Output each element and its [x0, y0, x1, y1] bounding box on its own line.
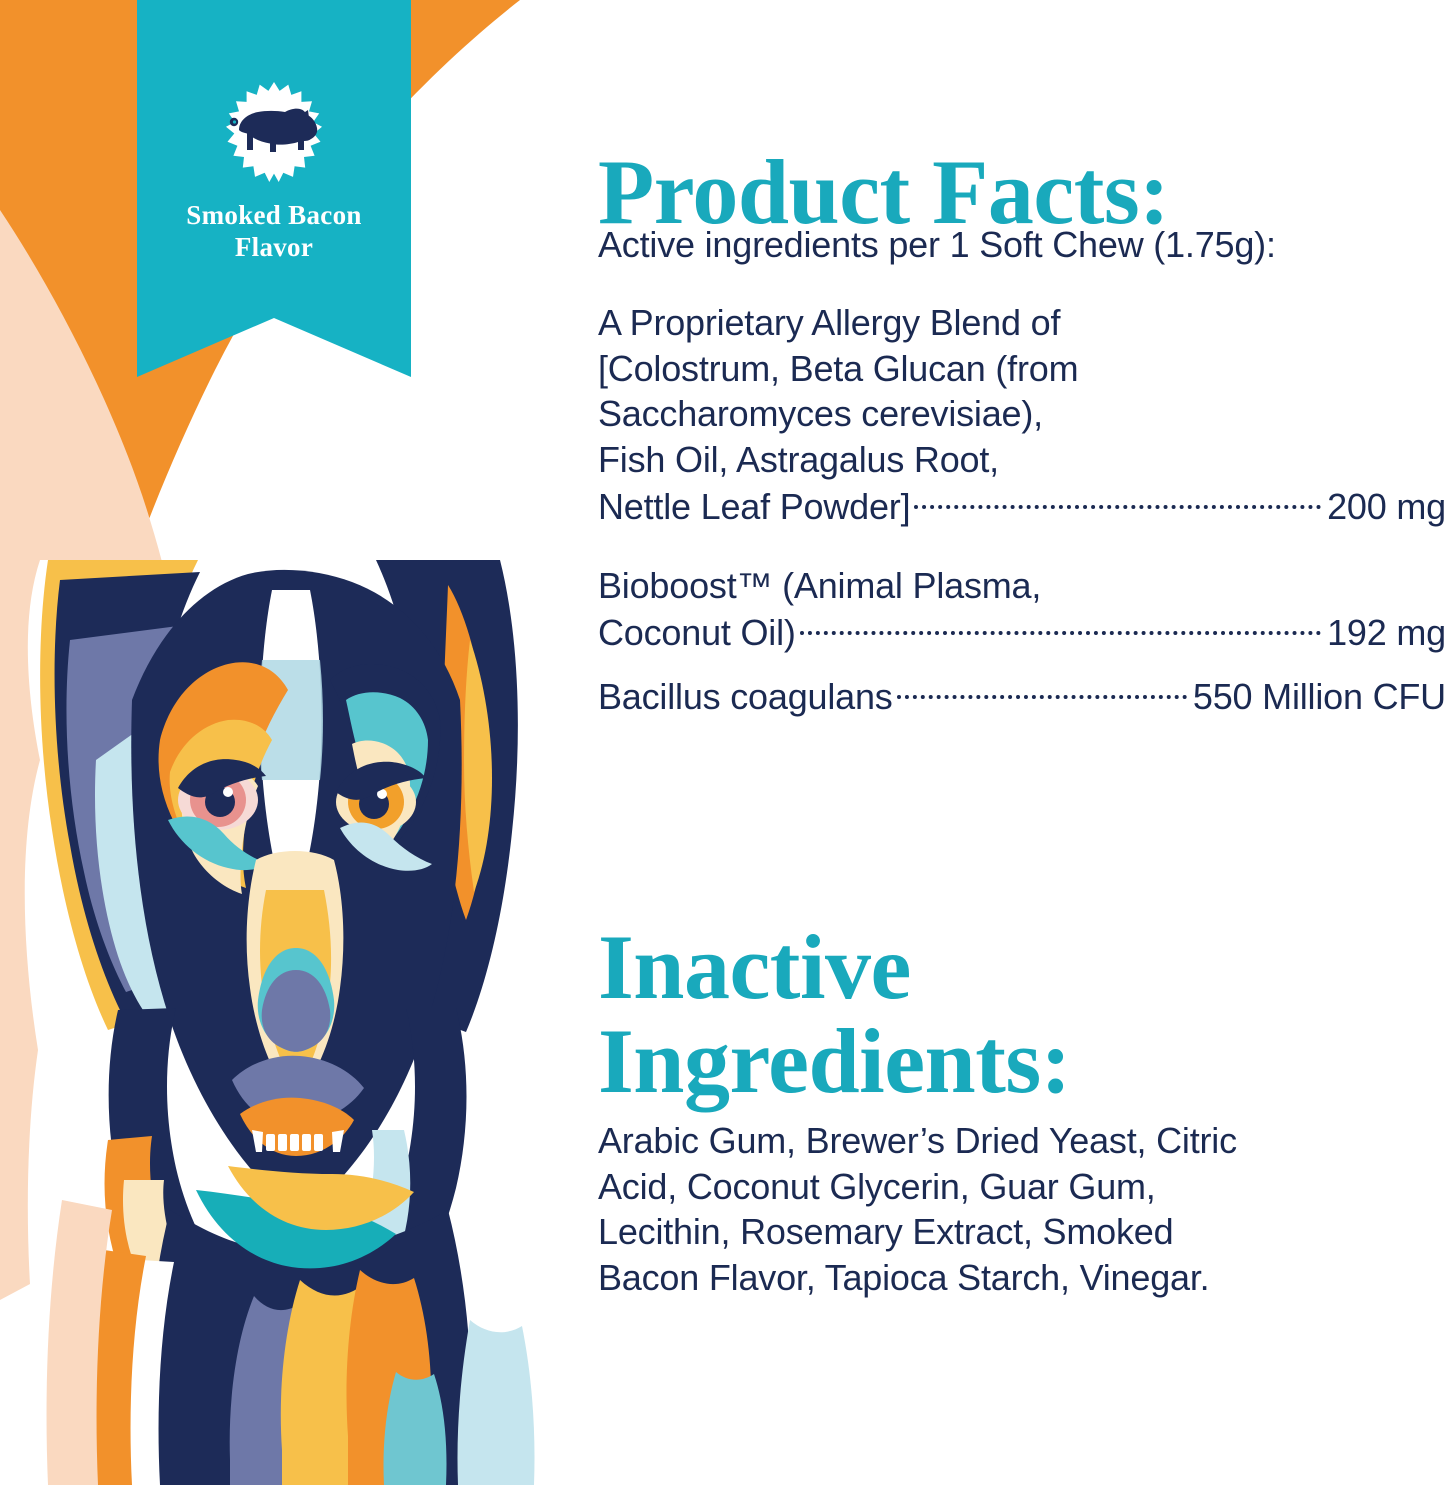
- flavor-line-1: Smoked Bacon: [154, 200, 394, 232]
- dotted-leader: [800, 609, 1321, 645]
- inactive-ingredients-body: Arabic Gum, Brewer’s Dried Yeast, Citric…: [598, 1118, 1428, 1301]
- active-ingredient-row: Bioboost™ (Animal Plasma, Coconut Oil) 1…: [598, 563, 1445, 655]
- flavor-banner: Smoked Bacon Flavor: [137, 0, 411, 377]
- ingredient-name-last-line: Coconut Oil): [598, 610, 796, 656]
- flavor-line-2: Flavor: [154, 232, 394, 264]
- ingredient-amount: 192 mg: [1327, 610, 1445, 656]
- flavor-label: Smoked Bacon Flavor: [154, 200, 394, 264]
- ingredient-name-lines: A Proprietary Allergy Blend of [Colostru…: [598, 300, 1445, 483]
- ingredient-amount-row: Bacillus coagulans 550 Million CFU: [598, 673, 1445, 720]
- active-ingredient-row: Bacillus coagulans 550 Million CFU: [598, 673, 1445, 720]
- ingredient-amount: 550 Million CFU: [1193, 674, 1445, 720]
- inactive-heading-line-2: Ingredients:: [598, 1010, 1071, 1112]
- product-facts-label: Smoked Bacon Flavor Product Facts: Activ…: [0, 0, 1445, 1485]
- inactive-line: Bacon Flavor, Tapioca Starch, Vinegar.: [598, 1255, 1428, 1301]
- ingredient-name-last-line: Bacillus coagulans: [598, 674, 893, 720]
- ingredient-amount-row: Nettle Leaf Powder] 200 mg: [598, 483, 1445, 530]
- inactive-heading-line-1: Inactive: [598, 916, 911, 1018]
- dotted-leader: [914, 483, 1321, 519]
- inactive-ingredients-heading: Inactive Ingredients:: [598, 921, 1358, 1109]
- ingredient-name-last-line: Nettle Leaf Powder]: [598, 484, 910, 530]
- serving-size-line: Active ingredients per 1 Soft Chew (1.75…: [598, 222, 1276, 268]
- inactive-line: Lecithin, Rosemary Extract, Smoked: [598, 1209, 1428, 1255]
- ingredient-amount: 200 mg: [1327, 484, 1445, 530]
- active-ingredient-row: A Proprietary Allergy Blend of [Colostru…: [598, 300, 1445, 530]
- pig-sunburst-badge-icon: [208, 78, 340, 182]
- pig-icon: [208, 78, 340, 182]
- ingredient-name-line: Saccharomyces cerevisiae),: [598, 391, 1445, 437]
- ingredient-name-line: A Proprietary Allergy Blend of: [598, 300, 1445, 346]
- dotted-leader: [897, 673, 1187, 709]
- ingredient-name-lines: Bioboost™ (Animal Plasma,: [598, 563, 1445, 609]
- inactive-line: Acid, Coconut Glycerin, Guar Gum,: [598, 1164, 1428, 1210]
- ingredient-name-line: [Colostrum, Beta Glucan (from: [598, 346, 1445, 392]
- dog-illustration: [25, 560, 560, 1485]
- product-facts-panel: Product Facts: Active ingredients per 1 …: [592, 0, 1445, 1485]
- ingredient-amount-row: Coconut Oil) 192 mg: [598, 609, 1445, 656]
- ingredient-name-line: Fish Oil, Astragalus Root,: [598, 437, 1445, 483]
- inactive-line: Arabic Gum, Brewer’s Dried Yeast, Citric: [598, 1118, 1428, 1164]
- ingredient-name-line: Bioboost™ (Animal Plasma,: [598, 563, 1445, 609]
